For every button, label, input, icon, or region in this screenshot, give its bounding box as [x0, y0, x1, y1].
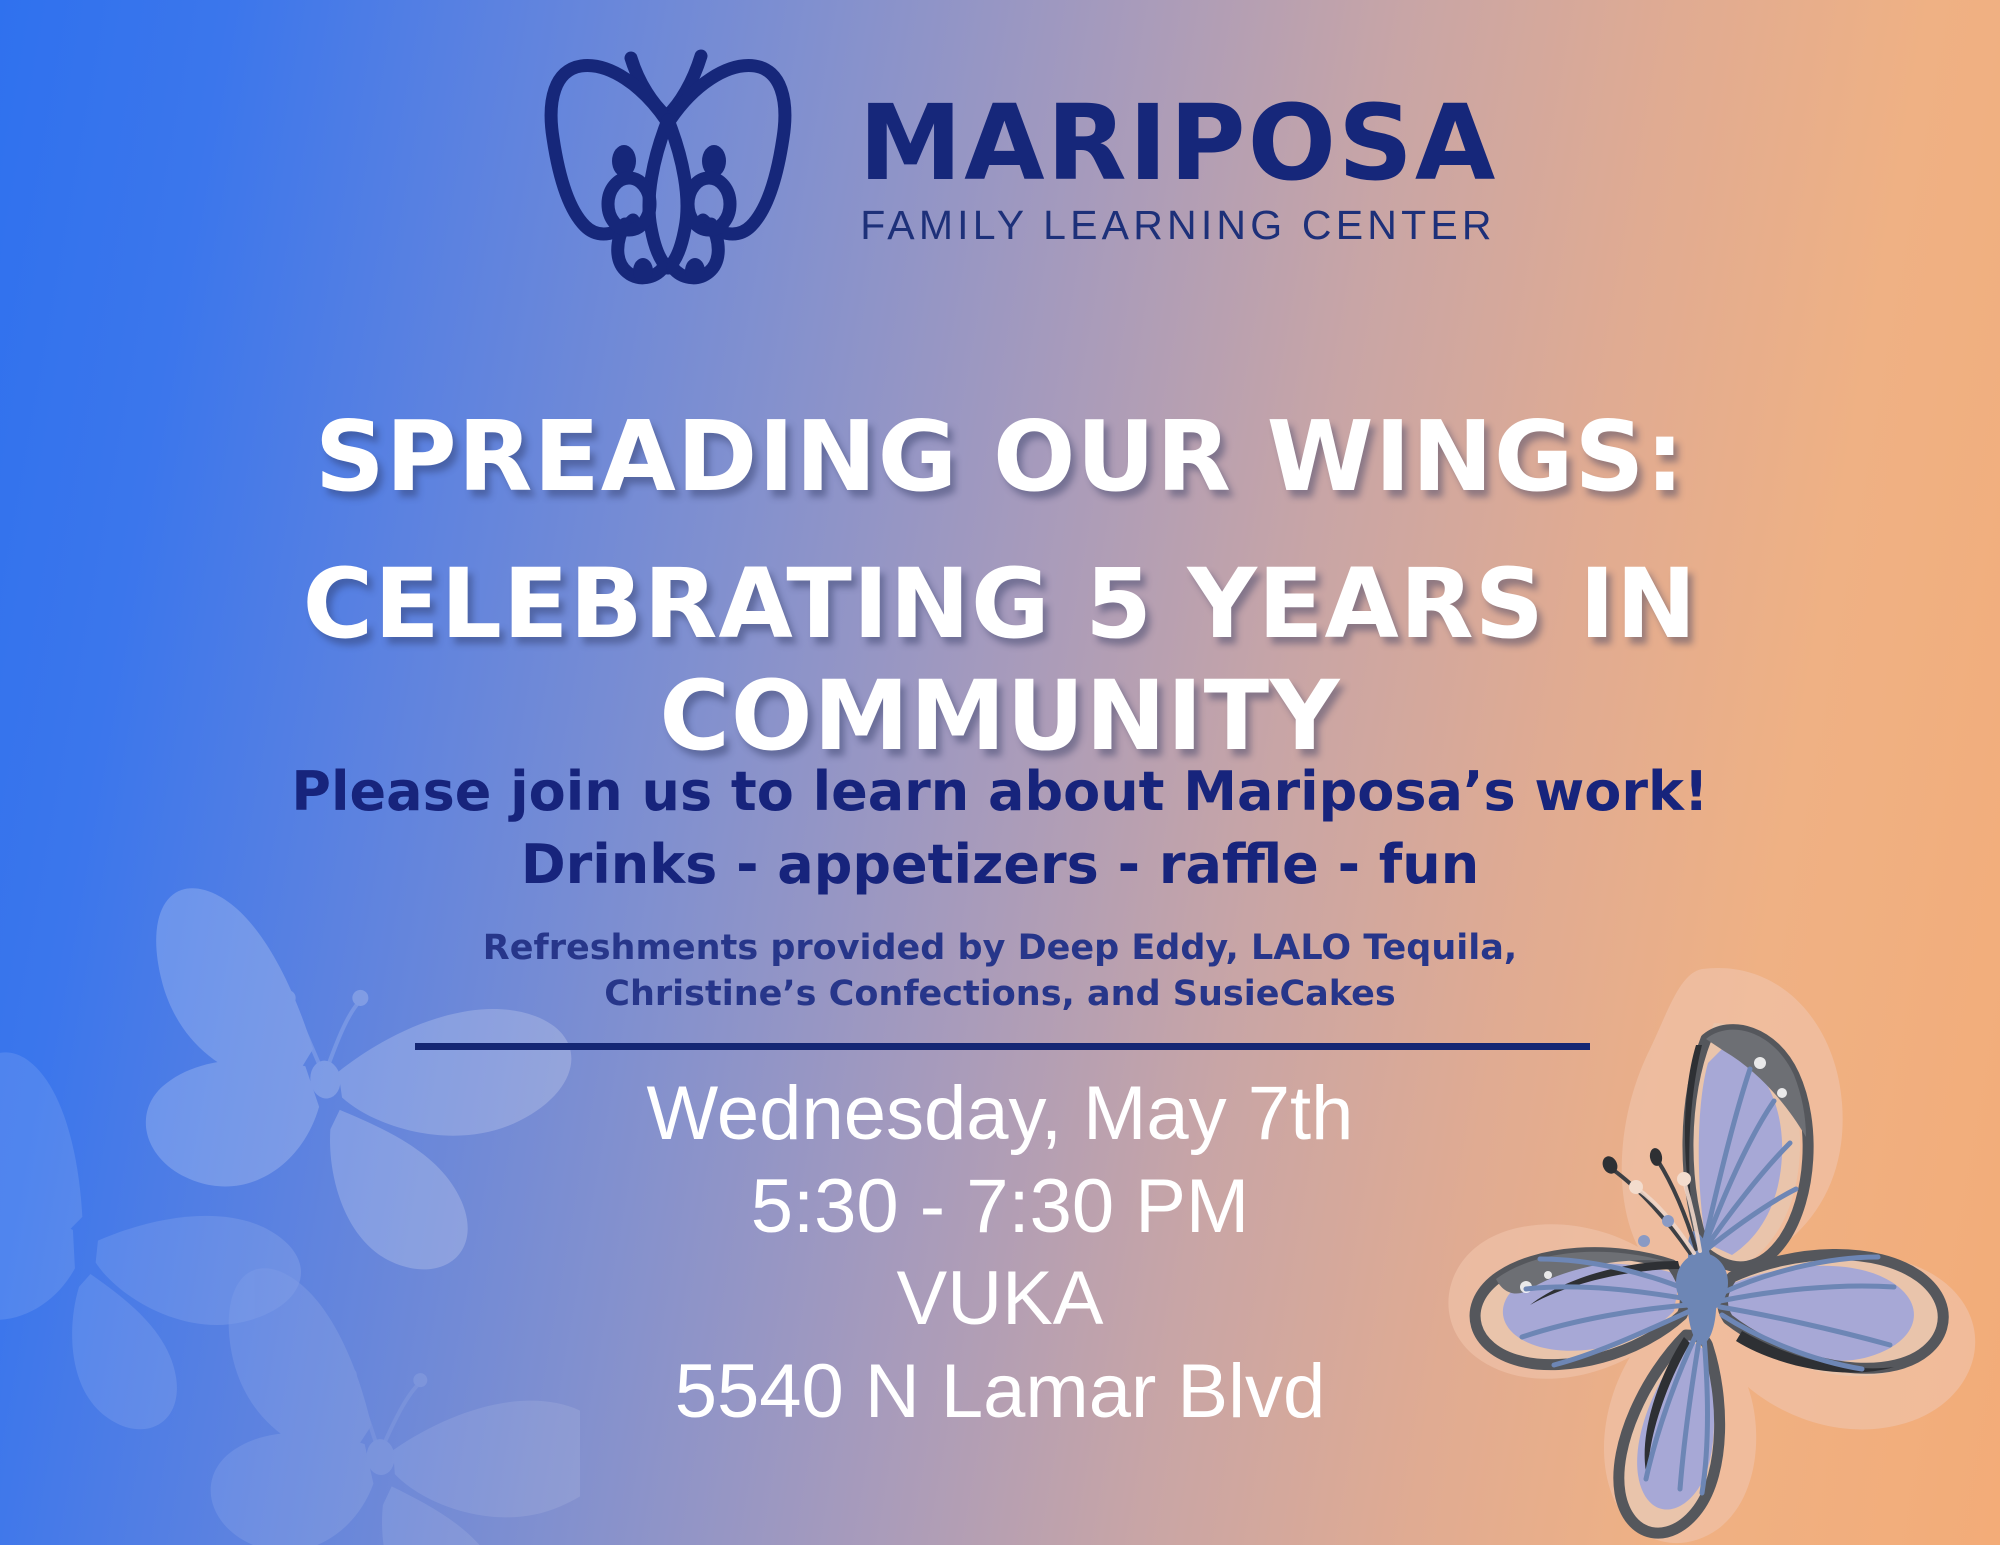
event-address: 5540 N Lamar Blvd	[0, 1346, 2000, 1439]
invitation-line-1: Please join us to learn about Mariposa’s…	[0, 760, 2000, 823]
headline-line-2: CELEBRATING 5 YEARS IN COMMUNITY	[0, 548, 2000, 772]
sponsors-line-1: Refreshments provided by Deep Eddy, LALO…	[0, 925, 2000, 971]
event-details: Wednesday, May 7th 5:30 - 7:30 PM VUKA 5…	[0, 1068, 2000, 1439]
event-time: 5:30 - 7:30 PM	[0, 1161, 2000, 1254]
event-date: Wednesday, May 7th	[0, 1068, 2000, 1161]
divider	[415, 1043, 1590, 1050]
event-flyer: MARIPOSA FAMILY LEARNING CENTER SPREADIN…	[0, 0, 2000, 1545]
sponsors-text: Refreshments provided by Deep Eddy, LALO…	[0, 925, 2000, 1017]
invitation-line-2: Drinks - appetizers - raffle - fun	[0, 833, 2000, 896]
logo-lockup: MARIPOSA FAMILY LEARNING CENTER	[0, 28, 2000, 290]
logo-wordmark: MARIPOSA FAMILY LEARNING CENTER	[859, 93, 1498, 250]
butterfly-logo-icon	[503, 28, 833, 290]
logo-name: MARIPOSA	[859, 93, 1498, 195]
event-venue: VUKA	[0, 1253, 2000, 1346]
logo-tagline: FAMILY LEARNING CENTER	[860, 202, 1495, 249]
headline-line-1: SPREADING OUR WINGS:	[0, 400, 2000, 513]
sponsors-line-2: Christine’s Confections, and SusieCakes	[0, 971, 2000, 1017]
